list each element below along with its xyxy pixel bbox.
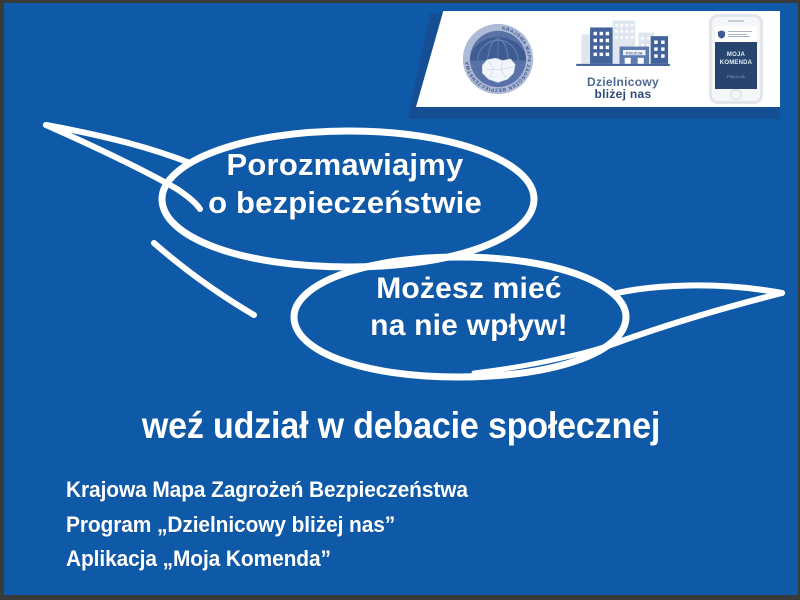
bubble-2-text: Możesz mieć na nie wpływ! [334, 271, 604, 344]
dzielnicowy-caption-line1: Dzielnicowy [571, 76, 675, 88]
phone-app-title-line1: MOJA [727, 52, 745, 58]
moja-komenda-phone-icon: MOJA KOMENDA POLICJA [709, 14, 763, 104]
program-list: Krajowa Mapa Zagrożeń Bezpieczeństwa Pro… [66, 473, 489, 577]
phone-screen: MOJA KOMENDA POLICJA [715, 26, 757, 89]
phone-app-title: MOJA KOMENDA [720, 52, 752, 67]
bubble-2-line2: na nie wpływ! [370, 309, 568, 342]
phone-app-footer: POLICJA [727, 74, 745, 79]
program-list-item-3: Aplikacja „Moja Komenda” [66, 542, 468, 577]
police-badge-icon [717, 30, 726, 39]
phone-app-title-line2: KOMENDA [720, 60, 752, 66]
logo-banner: KRAJOWA MAPA ZAGROŻEŃ BEZPIECZEŃSTWA [416, 11, 780, 107]
kmzb-emblem-icon: KRAJOWA MAPA ZAGROŻEŃ BEZPIECZEŃSTWA [459, 20, 537, 98]
program-list-item-2: Program „Dzielnicowy bliżej nas” [66, 508, 468, 543]
bubble-1-line2: o bezpieczeństwie [208, 185, 482, 220]
phone-app-body: MOJA KOMENDA POLICJA [715, 42, 757, 89]
program-list-item-1: Krajowa Mapa Zagrożeń Bezpieczeństwa [66, 473, 468, 508]
phone-home-button [731, 89, 742, 100]
dzielnicowy-caption-line2: bliżej nas [571, 88, 675, 100]
bubble-1-text: Porozmawiajmy o bezpieczeństwie [180, 146, 510, 222]
dzielnicowy-logo-icon: POLICJA Dzielnicowy bliżej nas [571, 17, 675, 101]
bubble-1-line1: Porozmawiajmy [227, 147, 464, 182]
headline: weź udział w debacie społecznej [36, 405, 766, 447]
phone-header-text-lines [728, 29, 755, 38]
bubble-2-line1: Możesz mieć [376, 272, 562, 305]
svg-text:POLICJA: POLICJA [626, 51, 643, 55]
poster-canvas: KRAJOWA MAPA ZAGROŻEŃ BEZPIECZEŃSTWA [0, 0, 800, 600]
phone-speaker [728, 20, 744, 22]
phone-app-header [715, 26, 757, 42]
